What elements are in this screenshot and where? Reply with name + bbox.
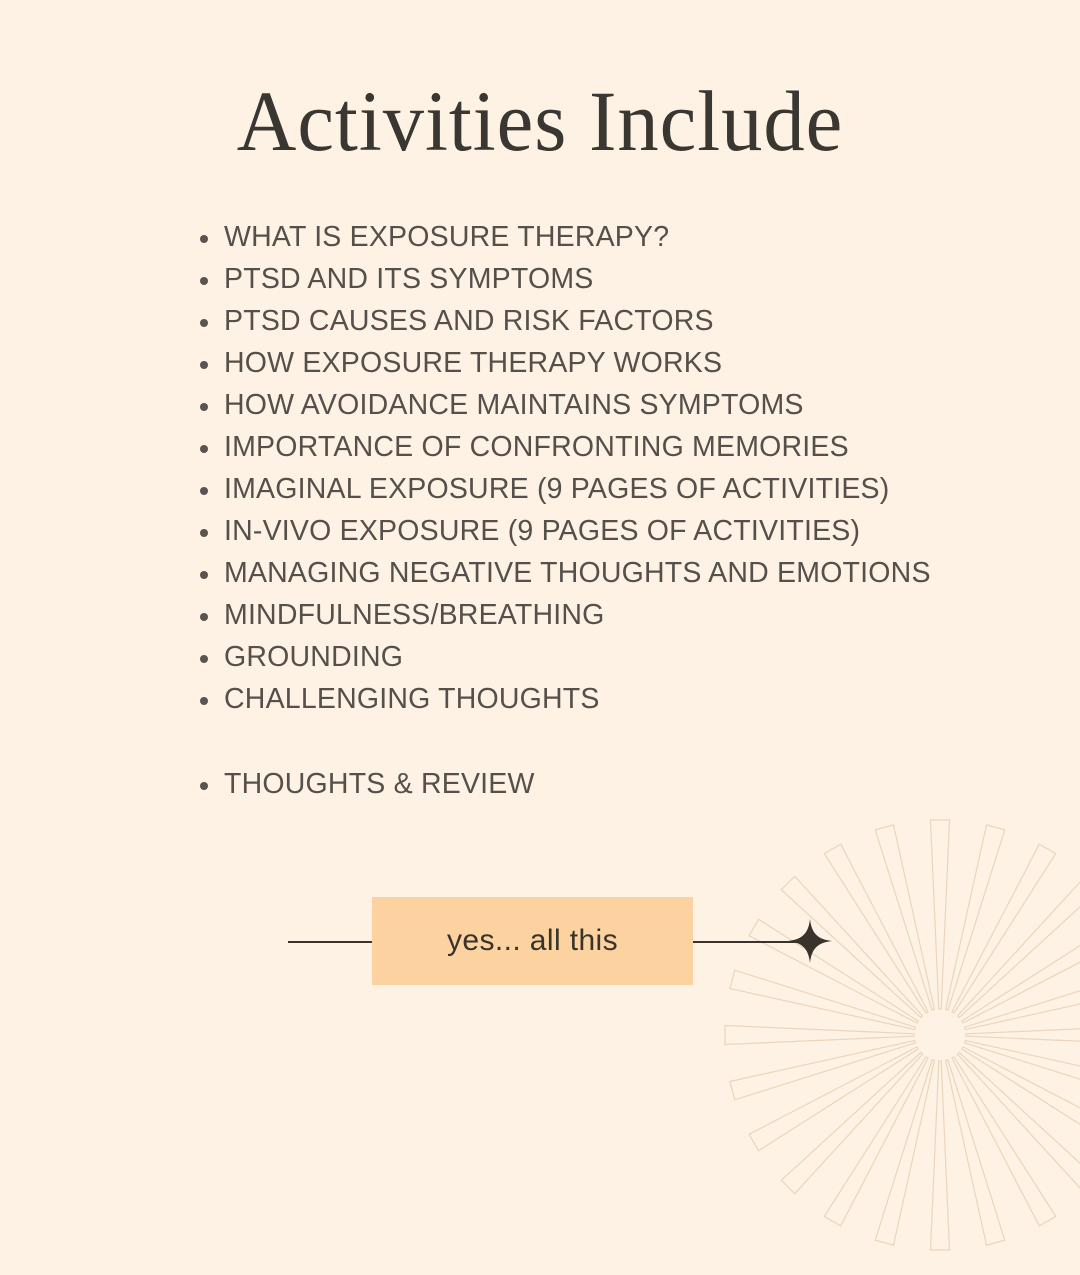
list-item-label: MINDFULNESS/BREATHING bbox=[224, 594, 605, 636]
list-item: IMAGINAL EXPOSURE (9 PAGES OF ACTIVITIES… bbox=[200, 468, 1020, 510]
list-item: IMPORTANCE OF CONFRONTING MEMORIES bbox=[200, 426, 1020, 468]
list-item: MINDFULNESS/BREATHING bbox=[200, 594, 1020, 636]
bullet-icon bbox=[200, 347, 224, 369]
four-pointed-star-icon bbox=[786, 917, 834, 965]
list-item: HOW AVOIDANCE MAINTAINS SYMPTOMS bbox=[200, 384, 1020, 426]
list-item: PTSD CAUSES AND RISK FACTORS bbox=[200, 300, 1020, 342]
list-item-label: GROUNDING bbox=[224, 636, 403, 678]
list-item: CHALLENGING THOUGHTS bbox=[200, 678, 1020, 720]
list-item-label: HOW AVOIDANCE MAINTAINS SYMPTOMS bbox=[224, 384, 804, 426]
bullet-icon bbox=[200, 473, 224, 495]
list-item-label: WHAT IS EXPOSURE THERAPY? bbox=[224, 216, 669, 258]
sunburst-rays-icon bbox=[700, 795, 1080, 1275]
bullet-icon bbox=[200, 431, 224, 453]
list-item: WHAT IS EXPOSURE THERAPY? bbox=[200, 216, 1020, 258]
list-item: IN-VIVO EXPOSURE (9 PAGES OF ACTIVITIES) bbox=[200, 510, 1020, 552]
bullet-icon bbox=[200, 515, 224, 537]
bullet-icon bbox=[200, 389, 224, 411]
list-item-label: PTSD AND ITS SYMPTOMS bbox=[224, 258, 593, 300]
page-title: Activities Include bbox=[22, 78, 1059, 164]
bullet-icon bbox=[200, 683, 224, 705]
list-item: THOUGHTS & REVIEW bbox=[200, 763, 1020, 805]
list-item-label: PTSD CAUSES AND RISK FACTORS bbox=[224, 300, 714, 342]
list-item: MANAGING NEGATIVE THOUGHTS AND EMOTIONS bbox=[200, 552, 1020, 594]
bullet-icon bbox=[200, 263, 224, 285]
activities-list: WHAT IS EXPOSURE THERAPY?PTSD AND ITS SY… bbox=[200, 216, 1020, 805]
list-item-label: IMAGINAL EXPOSURE (9 PAGES OF ACTIVITIES… bbox=[224, 468, 889, 510]
bullet-icon bbox=[200, 641, 224, 663]
bullet-icon bbox=[200, 221, 224, 243]
list-item: GROUNDING bbox=[200, 636, 1020, 678]
bullet-icon bbox=[200, 768, 224, 790]
bottom-banner: yes... all this bbox=[0, 897, 1080, 987]
poster-canvas: Activities Include WHAT IS EXPOSURE THER… bbox=[0, 0, 1080, 1080]
bullet-icon bbox=[200, 557, 224, 579]
banner-label: yes... all this bbox=[447, 924, 618, 958]
list-item-label: IMPORTANCE OF CONFRONTING MEMORIES bbox=[224, 426, 849, 468]
list-item-label: HOW EXPOSURE THERAPY WORKS bbox=[224, 342, 722, 384]
banner-highlight-box: yes... all this bbox=[372, 897, 693, 985]
bullet-icon bbox=[200, 305, 224, 327]
bullet-icon bbox=[200, 599, 224, 621]
list-item: PTSD AND ITS SYMPTOMS bbox=[200, 258, 1020, 300]
list-item-label: MANAGING NEGATIVE THOUGHTS AND EMOTIONS bbox=[224, 552, 931, 594]
list-item-label: THOUGHTS & REVIEW bbox=[224, 763, 535, 805]
list-item-label: CHALLENGING THOUGHTS bbox=[224, 678, 600, 720]
list-item: HOW EXPOSURE THERAPY WORKS bbox=[200, 342, 1020, 384]
list-item-label: IN-VIVO EXPOSURE (9 PAGES OF ACTIVITIES) bbox=[224, 510, 860, 552]
